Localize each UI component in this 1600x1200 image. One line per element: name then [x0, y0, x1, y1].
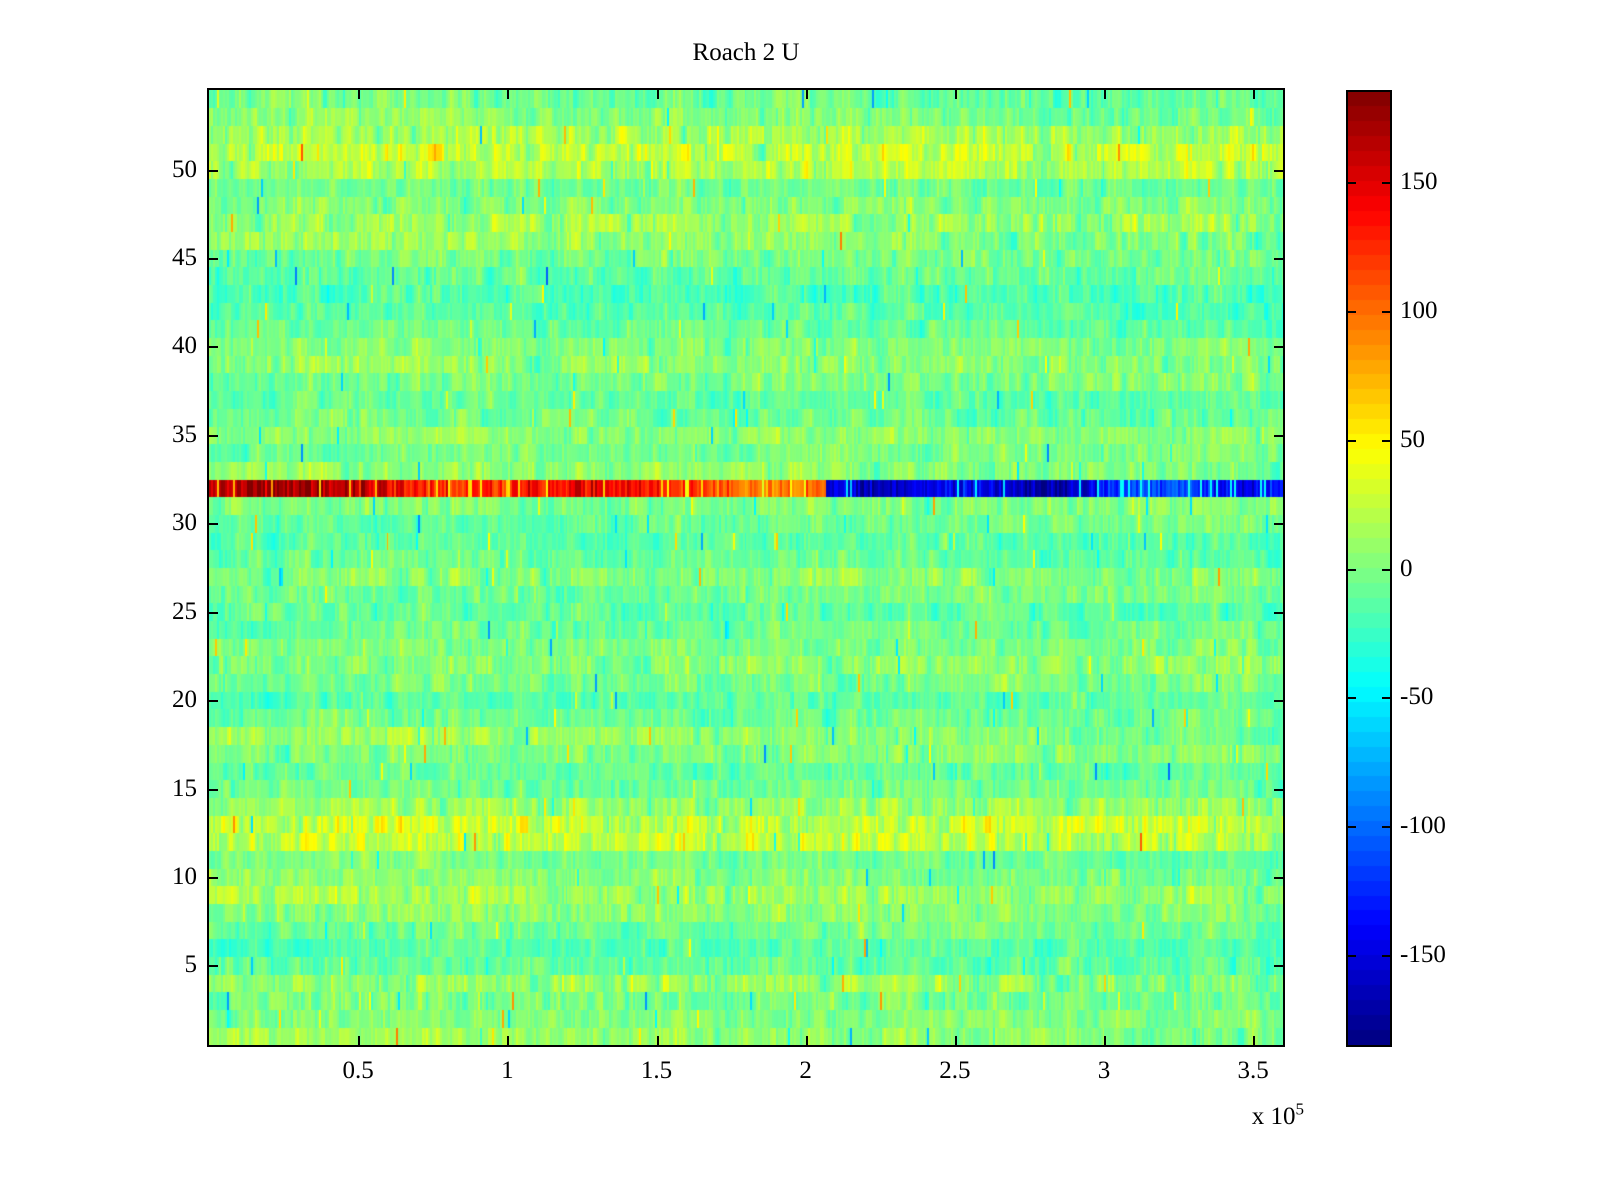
page-title: Roach 2 U: [207, 38, 1285, 68]
colorbar[interactable]: [1346, 90, 1392, 1047]
colorbar-tick--100: [1348, 826, 1356, 828]
x-tick-0.5: [358, 1036, 360, 1045]
y-tick-20: [209, 700, 218, 702]
y-tick-right-40: [1274, 346, 1283, 348]
y-tick-right-30: [1274, 523, 1283, 525]
y-tick-right-15: [1274, 789, 1283, 791]
x-tick-1: [507, 1036, 509, 1045]
colorbar-tick--50: [1348, 697, 1356, 699]
y-tick-45: [209, 258, 218, 260]
heatmap-image: [209, 90, 1283, 1045]
x-axis-exponent-power: 5: [1296, 1100, 1305, 1119]
y-tick-right-20: [1274, 700, 1283, 702]
colorbar-tick-right--50: [1382, 697, 1390, 699]
colorbar-tick-right--150: [1382, 955, 1390, 957]
y-tick-right-45: [1274, 258, 1283, 260]
x-tick-top-2: [806, 90, 808, 99]
colorbar-tick-label--100: -100: [1400, 812, 1446, 840]
figure-canvas: Roach 2 U 0.511.522.533.5 51015202530354…: [0, 0, 1600, 1200]
heatmap-axes[interactable]: [207, 88, 1285, 1047]
x-tick-label-0.5: 0.5: [343, 1057, 374, 1085]
x-axis-exponent-label: x 105: [1252, 1103, 1304, 1131]
x-tick-label-3.5: 3.5: [1238, 1057, 1269, 1085]
y-tick-right-50: [1274, 170, 1283, 172]
y-tick-label-10: 10: [111, 863, 197, 891]
colorbar-tick-100: [1348, 311, 1356, 313]
y-tick-label-40: 40: [111, 332, 197, 360]
y-tick-30: [209, 523, 218, 525]
y-tick-label-20: 20: [111, 686, 197, 714]
x-tick-top-3: [1104, 90, 1106, 99]
x-tick-label-3: 3: [1098, 1057, 1111, 1085]
y-tick-10: [209, 877, 218, 879]
colorbar-tick-right-50: [1382, 440, 1390, 442]
x-tick-3.5: [1253, 1036, 1255, 1045]
y-tick-35: [209, 435, 218, 437]
colorbar-tick--150: [1348, 955, 1356, 957]
colorbar-tick-label--150: -150: [1400, 941, 1446, 969]
colorbar-tick-right--100: [1382, 826, 1390, 828]
colorbar-tick-label-100: 100: [1400, 297, 1438, 325]
y-tick-5: [209, 965, 218, 967]
x-tick-top-0.5: [358, 90, 360, 99]
x-tick-label-1: 1: [501, 1057, 514, 1085]
x-tick-2: [806, 1036, 808, 1045]
x-tick-label-2: 2: [799, 1057, 812, 1085]
y-tick-right-10: [1274, 877, 1283, 879]
y-tick-label-35: 35: [111, 421, 197, 449]
colorbar-tick-0: [1348, 569, 1356, 571]
y-tick-label-50: 50: [111, 156, 197, 184]
colorbar-tick-label--50: -50: [1400, 683, 1433, 711]
x-axis-exponent-mantissa: x 10: [1252, 1103, 1296, 1130]
y-tick-label-45: 45: [111, 244, 197, 272]
x-tick-label-2.5: 2.5: [939, 1057, 970, 1085]
x-tick-top-1.5: [657, 90, 659, 99]
y-tick-label-5: 5: [111, 951, 197, 979]
colorbar-tick-label-0: 0: [1400, 555, 1413, 583]
y-tick-50: [209, 170, 218, 172]
y-tick-label-15: 15: [111, 775, 197, 803]
y-tick-15: [209, 789, 218, 791]
x-tick-1.5: [657, 1036, 659, 1045]
colorbar-tick-right-150: [1382, 182, 1390, 184]
colorbar-tick-50: [1348, 440, 1356, 442]
y-tick-label-30: 30: [111, 509, 197, 537]
x-tick-top-3.5: [1253, 90, 1255, 99]
y-tick-right-5: [1274, 965, 1283, 967]
colorbar-tick-right-0: [1382, 569, 1390, 571]
x-tick-label-1.5: 1.5: [641, 1057, 672, 1085]
y-tick-right-25: [1274, 612, 1283, 614]
colorbar-tick-150: [1348, 182, 1356, 184]
y-tick-label-25: 25: [111, 598, 197, 626]
y-tick-25: [209, 612, 218, 614]
y-tick-40: [209, 346, 218, 348]
x-tick-top-2.5: [955, 90, 957, 99]
colorbar-tick-label-50: 50: [1400, 426, 1425, 454]
x-tick-2.5: [955, 1036, 957, 1045]
colorbar-tick-label-150: 150: [1400, 168, 1438, 196]
y-tick-right-35: [1274, 435, 1283, 437]
x-tick-top-1: [507, 90, 509, 99]
colorbar-tick-right-100: [1382, 311, 1390, 313]
x-tick-3: [1104, 1036, 1106, 1045]
